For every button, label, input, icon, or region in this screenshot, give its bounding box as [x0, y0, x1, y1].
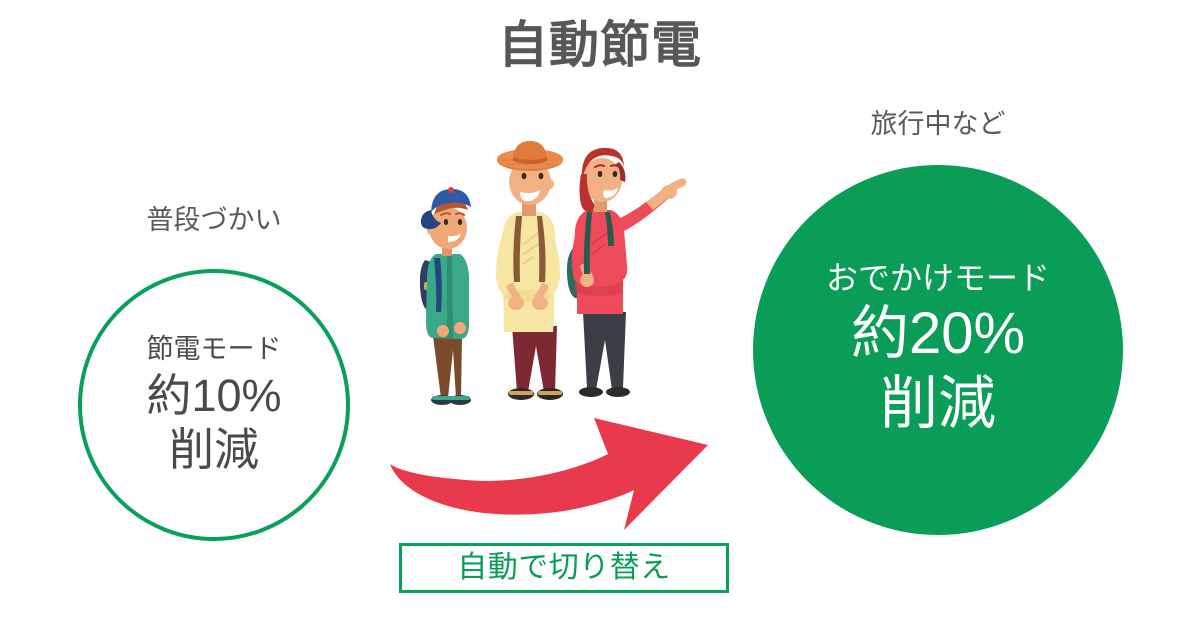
auto-switch-label: 自動で切り替え — [457, 553, 671, 583]
woman-figure — [567, 148, 686, 397]
right-section-caption: 旅行中など — [788, 108, 1088, 140]
eco-mode-reduce-label: 削減 — [169, 423, 259, 476]
arrow-shape — [390, 418, 708, 530]
infographic-canvas: 自動節電 普段づかい 節電モード 約10% 削減 旅行中など おでかけモード 約… — [0, 0, 1200, 630]
eco-mode-percent: 約10% — [146, 369, 281, 422]
travelers-illustration — [420, 140, 710, 420]
eco-mode-name: 節電モード — [147, 334, 282, 365]
curved-arrow — [372, 412, 732, 542]
away-mode-name: おでかけモード — [826, 260, 1050, 297]
page-title: 自動節電 — [0, 18, 1200, 73]
man-figure — [496, 141, 563, 400]
away-mode-circle: おでかけモード 約20% 削減 — [753, 165, 1123, 535]
left-section-caption: 普段づかい — [64, 204, 364, 236]
eco-mode-circle: 節電モード 約10% 削減 — [78, 269, 350, 541]
away-mode-reduce-label: 削減 — [880, 369, 996, 440]
auto-switch-badge: 自動で切り替え — [399, 543, 729, 593]
away-mode-percent: 約20% — [851, 299, 1025, 370]
boy-figure — [420, 187, 471, 405]
